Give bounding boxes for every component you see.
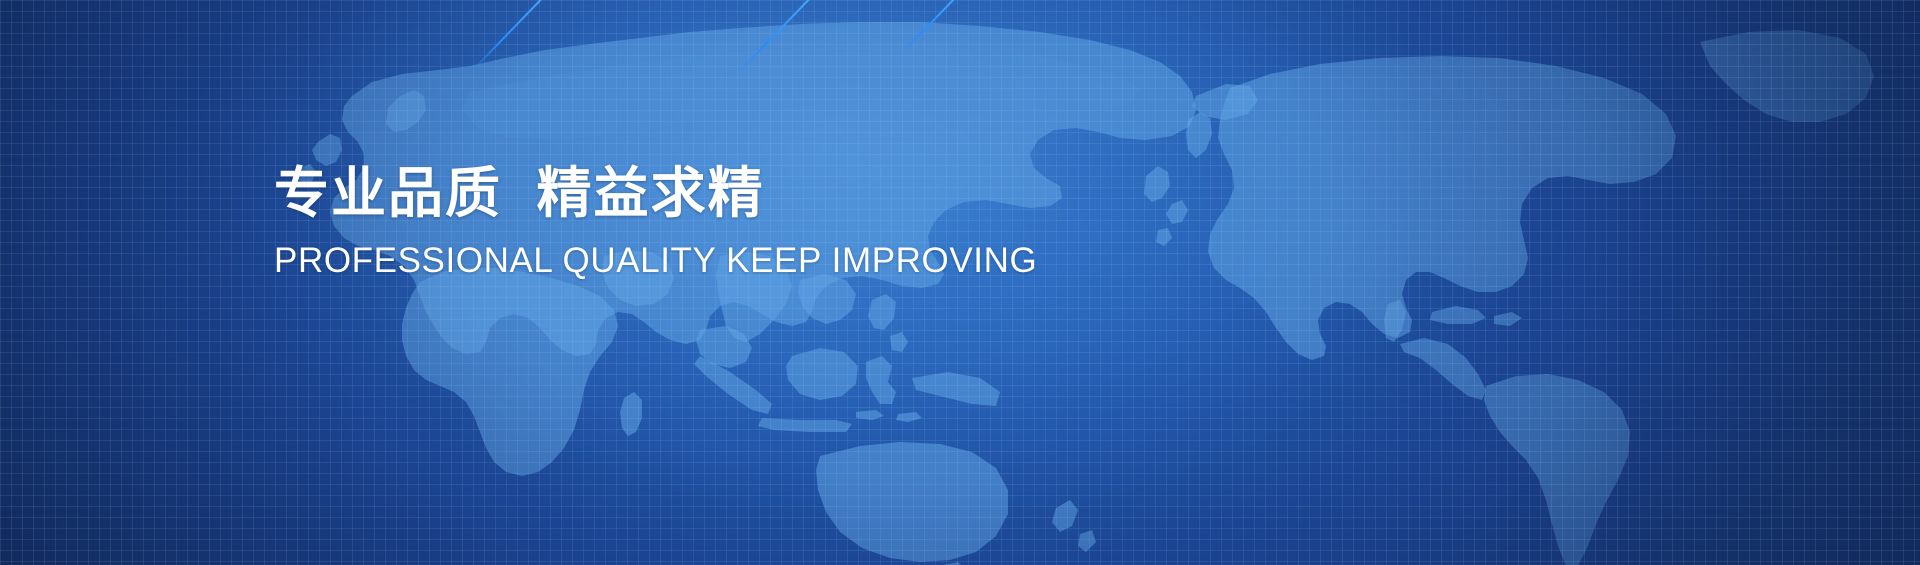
background-vignette <box>0 0 1920 565</box>
hero-banner: 专业品质 精益求精 PROFESSIONAL QUALITY KEEP IMPR… <box>0 0 1920 565</box>
banner-headline: 专业品质 精益求精 <box>274 166 1037 221</box>
banner-copy: 专业品质 精益求精 PROFESSIONAL QUALITY KEEP IMPR… <box>274 166 1037 278</box>
banner-subheadline: PROFESSIONAL QUALITY KEEP IMPROVING <box>274 243 1037 278</box>
